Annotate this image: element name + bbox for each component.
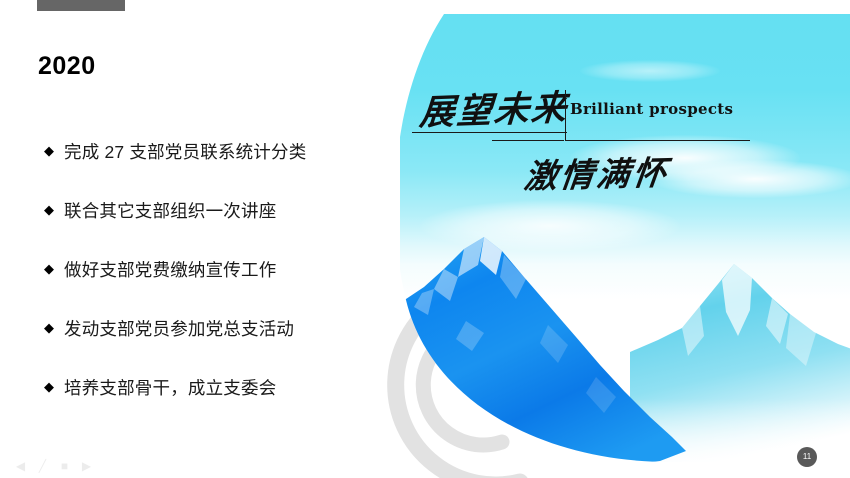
next-arrow-icon[interactable]: ▶ <box>80 459 93 472</box>
slideshow-nav-controls[interactable]: ◀ ╱ ■ ▶ <box>14 459 93 472</box>
list-item: ◆ 培养支部骨干，成立支委会 <box>44 358 384 417</box>
list-item-label: 完成 27 支部党员联系统计分类 <box>64 139 306 164</box>
diamond-bullet-icon: ◆ <box>44 321 64 334</box>
list-item-label: 做好支部党费缴纳宣传工作 <box>64 257 276 282</box>
mountain-left <box>400 225 720 475</box>
calligraphy-rule-right <box>565 140 750 141</box>
diamond-bullet-icon: ◆ <box>44 203 64 216</box>
calligraphy-rule-middle <box>492 140 564 141</box>
slide-image: 展望未来 Brilliant prospects 激情满怀 <box>400 0 850 478</box>
bullet-list: ◆ 完成 27 支部党员联系统计分类 ◆ 联合其它支部组织一次讲座 ◆ 做好支部… <box>44 122 384 417</box>
presentation-slide: 2020 ◆ 完成 27 支部党员联系统计分类 ◆ 联合其它支部组织一次讲座 ◆… <box>0 0 850 478</box>
list-item: ◆ 做好支部党费缴纳宣传工作 <box>44 240 384 299</box>
calligraphy-main-text: 展望未来 <box>418 79 570 135</box>
calligraphy-sub-text: 激情满怀 <box>522 146 672 198</box>
slide-menu-icon[interactable]: ■ <box>58 459 71 472</box>
diamond-bullet-icon: ◆ <box>44 144 64 157</box>
list-item: ◆ 发动支部党员参加党总支活动 <box>44 299 384 358</box>
calligraphy-vertical-divider <box>565 90 566 141</box>
list-item-label: 培养支部骨干，成立支委会 <box>64 375 276 400</box>
list-item-label: 联合其它支部组织一次讲座 <box>64 198 276 223</box>
pen-icon[interactable]: ╱ <box>36 459 49 472</box>
page-title: 2020 <box>38 54 96 79</box>
list-item: ◆ 联合其它支部组织一次讲座 <box>44 181 384 240</box>
list-item-label: 发动支部党员参加党总支活动 <box>64 316 294 341</box>
top-accent-bar <box>37 0 125 11</box>
image-clip-shape: 展望未来 Brilliant prospects 激情满怀 <box>400 0 850 478</box>
list-item: ◆ 完成 27 支部党员联系统计分类 <box>44 122 384 181</box>
calligraphy-title-group: 展望未来 Brilliant prospects 激情满怀 <box>410 60 840 190</box>
calligraphy-english-text: Brilliant prospects <box>570 100 733 118</box>
prev-arrow-icon[interactable]: ◀ <box>14 459 27 472</box>
diamond-bullet-icon: ◆ <box>44 262 64 275</box>
diamond-bullet-icon: ◆ <box>44 380 64 393</box>
calligraphy-rule-left <box>412 132 567 133</box>
page-number-badge: 11 <box>797 447 817 467</box>
